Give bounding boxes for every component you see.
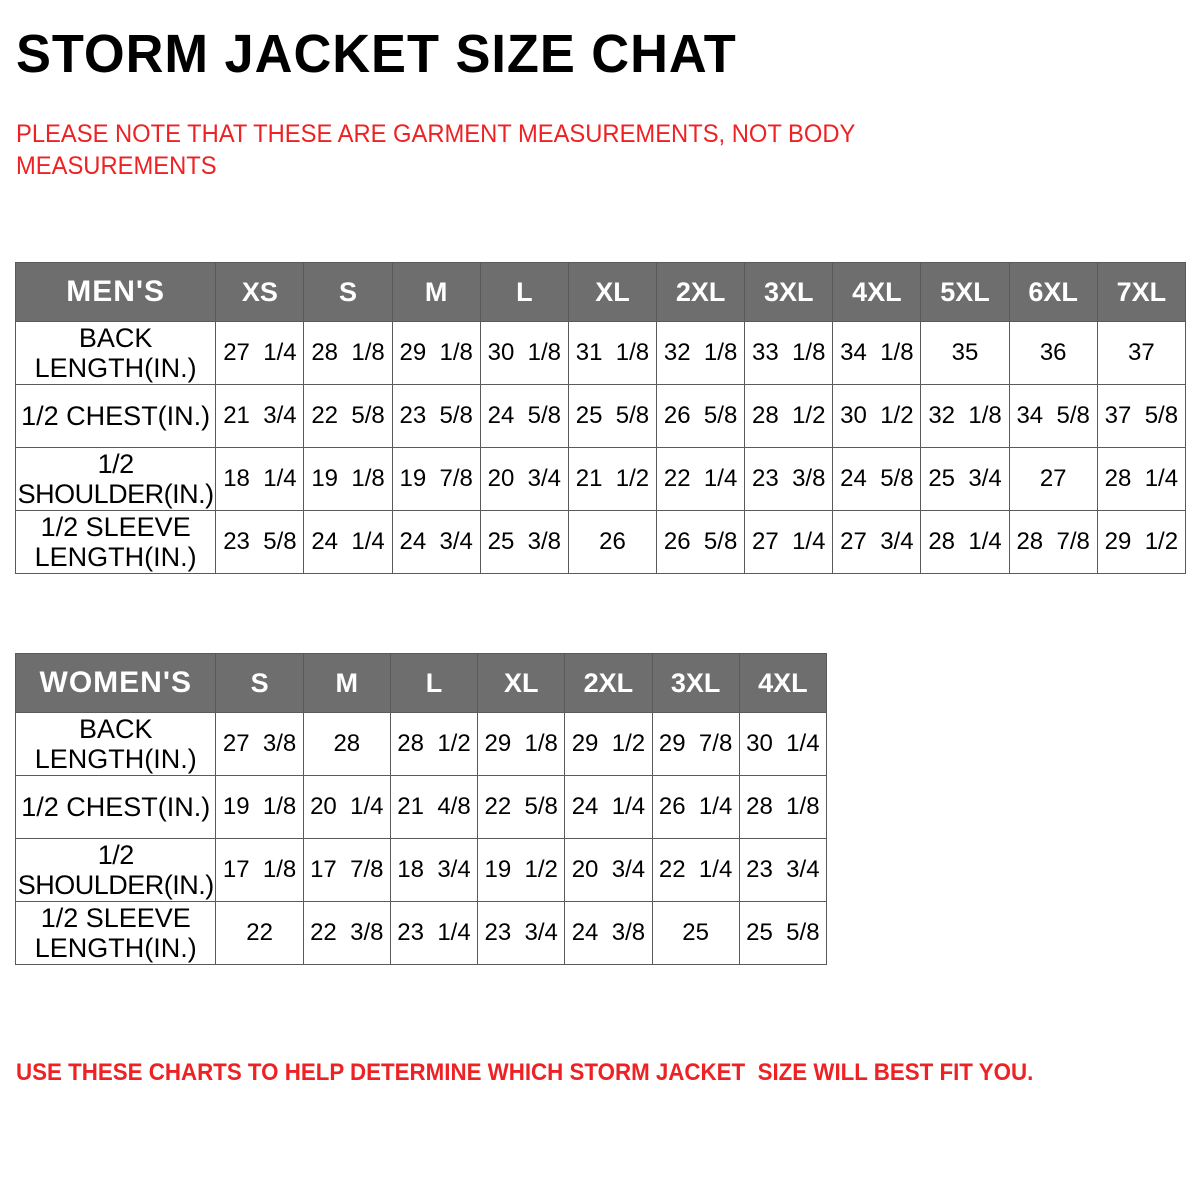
measurement-value: 27 1/4 [745, 528, 832, 556]
mens-cell-r1-c10: 37 5/8 [1097, 385, 1185, 448]
womens-cell-r3-c0: 22 [216, 902, 303, 965]
womens-cell-r0-c5: 29 7/8 [652, 713, 739, 776]
mens-column-header-4xl: 4XL [833, 263, 921, 322]
measurement-value: 29 7/8 [653, 730, 739, 758]
mens-cell-r3-c3: 25 3/8 [480, 511, 568, 574]
page-title: STORM JACKET SIZE CHAT [16, 24, 737, 84]
measurement-value: 24 3/4 [393, 528, 480, 556]
measurement-value: 28 1/2 [391, 730, 477, 758]
mens-row-label: 1/2 SHOULDER(IN.) [16, 448, 216, 511]
measurement-value: 24 1/4 [565, 793, 651, 821]
mens-column-header-5xl: 5XL [921, 263, 1009, 322]
mens-cell-r1-c4: 25 5/8 [568, 385, 656, 448]
measurement-value: 26 1/4 [653, 793, 739, 821]
measurement-value: 25 3/4 [921, 465, 1008, 493]
measurement-value: 25 5/8 [740, 919, 826, 947]
womens-column-header-4xl: 4XL [739, 654, 826, 713]
mens-cell-r2-c6: 23 3/8 [745, 448, 833, 511]
womens-cell-r0-c4: 29 1/2 [565, 713, 652, 776]
table-row: 1/2 CHEST(IN.)21 3/422 5/823 5/824 5/825… [16, 385, 1186, 448]
womens-column-header-s: S [216, 654, 303, 713]
measurement-value: 32 1/8 [657, 339, 744, 367]
mens-cell-r1-c2: 23 5/8 [392, 385, 480, 448]
mens-cell-r0-c10: 37 [1097, 322, 1185, 385]
measurement-value: 22 5/8 [478, 793, 564, 821]
measurement-value: 23 3/8 [745, 465, 832, 493]
measurement-value: 37 5/8 [1098, 402, 1185, 430]
measurement-value: 19 1/8 [216, 793, 302, 821]
measurement-value: 23 5/8 [393, 402, 480, 430]
mens-column-header-xl: XL [568, 263, 656, 322]
garment-measurement-notice: PLEASE NOTE THAT THESE ARE GARMENT MEASU… [16, 118, 928, 182]
measurement-value: 24 5/8 [833, 465, 920, 493]
measurement-value: 29 1/2 [1098, 528, 1185, 556]
measurement-value: 28 1/2 [745, 402, 832, 430]
measurement-value: 29 1/8 [478, 730, 564, 758]
table-row: 1/2 CHEST(IN.)19 1/820 1/421 4/822 5/824… [16, 776, 827, 839]
mens-column-header-7xl: 7XL [1097, 263, 1185, 322]
mens-column-header-3xl: 3XL [745, 263, 833, 322]
mens-cell-r1-c0: 21 3/4 [216, 385, 304, 448]
womens-cell-r2-c1: 17 7/8 [303, 839, 390, 902]
mens-column-header-2xl: 2XL [657, 263, 745, 322]
measurement-value: 33 1/8 [745, 339, 832, 367]
measurement-value: 19 1/2 [478, 856, 564, 884]
measurement-value: 26 5/8 [657, 528, 744, 556]
womens-row-label: 1/2 SHOULDER(IN.) [16, 839, 216, 902]
measurement-value: 28 1/8 [740, 793, 826, 821]
measurement-value: 26 5/8 [657, 402, 744, 430]
measurement-value: 21 1/2 [569, 465, 656, 493]
mens-row-label: 1/2 CHEST(IN.) [16, 385, 216, 448]
table-row: 1/2 SHOULDER(IN.)18 1/419 1/819 7/820 3/… [16, 448, 1186, 511]
womens-cell-r3-c5: 25 [652, 902, 739, 965]
mens-cell-r2-c7: 24 5/8 [833, 448, 921, 511]
mens-column-header-6xl: 6XL [1009, 263, 1097, 322]
mens-cell-r0-c3: 30 1/8 [480, 322, 568, 385]
womens-column-header-xl: XL [478, 654, 565, 713]
measurement-value: 19 7/8 [393, 465, 480, 493]
womens-row-label: BACK LENGTH(IN.) [16, 713, 216, 776]
womens-cell-r1-c2: 21 4/8 [390, 776, 477, 839]
mens-cell-r0-c1: 28 1/8 [304, 322, 392, 385]
table-row: 1/2 SHOULDER(IN.)17 1/817 7/818 3/419 1/… [16, 839, 827, 902]
measurement-value: 30 1/8 [481, 339, 568, 367]
mens-cell-r3-c4: 26 [568, 511, 656, 574]
mens-cell-r2-c4: 21 1/2 [568, 448, 656, 511]
womens-cell-r2-c2: 18 3/4 [390, 839, 477, 902]
mens-cell-r2-c1: 19 1/8 [304, 448, 392, 511]
womens-cell-r3-c6: 25 5/8 [739, 902, 826, 965]
mens-corner-label: MEN'S [16, 263, 216, 322]
mens-column-header-l: L [480, 263, 568, 322]
mens-cell-r3-c10: 29 1/2 [1097, 511, 1185, 574]
measurement-value: 25 5/8 [569, 402, 656, 430]
measurement-value: 22 [216, 919, 302, 947]
measurement-value: 23 1/4 [391, 919, 477, 947]
measurement-value: 29 1/2 [565, 730, 651, 758]
womens-cell-r1-c0: 19 1/8 [216, 776, 303, 839]
mens-cell-r3-c5: 26 5/8 [657, 511, 745, 574]
mens-cell-r0-c7: 34 1/8 [833, 322, 921, 385]
table-row: 1/2 SLEEVE LENGTH(IN.)2222 3/823 1/423 3… [16, 902, 827, 965]
mens-cell-r1-c1: 22 5/8 [304, 385, 392, 448]
measurement-value: 27 3/8 [216, 730, 302, 758]
mens-cell-r0-c0: 27 1/4 [216, 322, 304, 385]
mens-row-label: 1/2 SLEEVE LENGTH(IN.) [16, 511, 216, 574]
mens-cell-r2-c9: 27 [1009, 448, 1097, 511]
mens-cell-r2-c0: 18 1/4 [216, 448, 304, 511]
measurement-value: 24 3/8 [565, 919, 651, 947]
mens-column-header-xs: XS [216, 263, 304, 322]
womens-cell-r1-c1: 20 1/4 [303, 776, 390, 839]
mens-size-table: MEN'SXSSMLXL2XL3XL4XL5XL6XL7XL BACK LENG… [15, 262, 1186, 574]
measurement-value: 28 1/4 [921, 528, 1008, 556]
mens-cell-r1-c7: 30 1/2 [833, 385, 921, 448]
womens-column-header-m: M [303, 654, 390, 713]
table-row: BACK LENGTH(IN.)27 1/428 1/829 1/830 1/8… [16, 322, 1186, 385]
measurement-value: 22 5/8 [304, 402, 391, 430]
measurement-value: 22 1/4 [657, 465, 744, 493]
measurement-value: 28 7/8 [1010, 528, 1097, 556]
mens-cell-r3-c0: 23 5/8 [216, 511, 304, 574]
measurement-value: 18 3/4 [391, 856, 477, 884]
womens-cell-r0-c3: 29 1/8 [478, 713, 565, 776]
mens-column-header-m: M [392, 263, 480, 322]
measurement-value: 31 1/8 [569, 339, 656, 367]
measurement-value: 22 3/8 [304, 919, 390, 947]
measurement-value: 32 1/8 [921, 402, 1008, 430]
womens-row-label: 1/2 CHEST(IN.) [16, 776, 216, 839]
womens-cell-r0-c0: 27 3/8 [216, 713, 303, 776]
mens-cell-r0-c4: 31 1/8 [568, 322, 656, 385]
mens-cell-r2-c2: 19 7/8 [392, 448, 480, 511]
measurement-value: 21 4/8 [391, 793, 477, 821]
womens-column-header-3xl: 3XL [652, 654, 739, 713]
womens-header-row: WOMEN'SSMLXL2XL3XL4XL [16, 654, 827, 713]
mens-cell-r3-c6: 27 1/4 [745, 511, 833, 574]
measurement-value: 27 [1010, 465, 1097, 493]
measurement-value: 17 1/8 [216, 856, 302, 884]
measurement-value: 25 [653, 919, 739, 947]
mens-cell-r0-c5: 32 1/8 [657, 322, 745, 385]
mens-cell-r2-c8: 25 3/4 [921, 448, 1009, 511]
womens-cell-r1-c5: 26 1/4 [652, 776, 739, 839]
mens-cell-r3-c1: 24 1/4 [304, 511, 392, 574]
mens-cell-r3-c2: 24 3/4 [392, 511, 480, 574]
measurement-value: 23 5/8 [216, 528, 303, 556]
measurement-value: 24 1/4 [304, 528, 391, 556]
measurement-value: 24 5/8 [481, 402, 568, 430]
mens-cell-r0-c6: 33 1/8 [745, 322, 833, 385]
measurement-value: 34 5/8 [1010, 402, 1097, 430]
mens-table-body: BACK LENGTH(IN.)27 1/428 1/829 1/830 1/8… [16, 322, 1186, 574]
womens-cell-r1-c4: 24 1/4 [565, 776, 652, 839]
womens-cell-r0-c1: 28 [303, 713, 390, 776]
mens-header-row: MEN'SXSSMLXL2XL3XL4XL5XL6XL7XL [16, 263, 1186, 322]
measurement-value: 20 3/4 [481, 465, 568, 493]
measurement-value: 23 3/4 [478, 919, 564, 947]
womens-table-body: BACK LENGTH(IN.)27 3/82828 1/229 1/829 1… [16, 713, 827, 965]
womens-column-header-l: L [390, 654, 477, 713]
measurement-value: 26 [569, 528, 656, 556]
mens-cell-r1-c3: 24 5/8 [480, 385, 568, 448]
measurement-value: 30 1/2 [833, 402, 920, 430]
size-chart-page: STORM JACKET SIZE CHAT PLEASE NOTE THAT … [0, 0, 1200, 1200]
womens-cell-r1-c3: 22 5/8 [478, 776, 565, 839]
measurement-value: 20 3/4 [565, 856, 651, 884]
womens-cell-r2-c0: 17 1/8 [216, 839, 303, 902]
mens-cell-r1-c5: 26 5/8 [657, 385, 745, 448]
measurement-value: 22 1/4 [653, 856, 739, 884]
measurement-value: 34 1/8 [833, 339, 920, 367]
womens-cell-r3-c3: 23 3/4 [478, 902, 565, 965]
womens-cell-r2-c6: 23 3/4 [739, 839, 826, 902]
measurement-value: 30 1/4 [740, 730, 826, 758]
measurement-value: 37 [1098, 339, 1185, 367]
mens-cell-r1-c9: 34 5/8 [1009, 385, 1097, 448]
measurement-value: 27 3/4 [833, 528, 920, 556]
measurement-value: 21 3/4 [216, 402, 303, 430]
measurement-value: 19 1/8 [304, 465, 391, 493]
womens-cell-r2-c5: 22 1/4 [652, 839, 739, 902]
mens-cell-r2-c5: 22 1/4 [657, 448, 745, 511]
womens-cell-r2-c4: 20 3/4 [565, 839, 652, 902]
mens-cell-r2-c3: 20 3/4 [480, 448, 568, 511]
mens-row-label: BACK LENGTH(IN.) [16, 322, 216, 385]
mens-cell-r0-c2: 29 1/8 [392, 322, 480, 385]
mens-cell-r3-c8: 28 1/4 [921, 511, 1009, 574]
womens-cell-r3-c2: 23 1/4 [390, 902, 477, 965]
mens-cell-r1-c8: 32 1/8 [921, 385, 1009, 448]
womens-cell-r1-c6: 28 1/8 [739, 776, 826, 839]
measurement-value: 17 7/8 [304, 856, 390, 884]
measurement-value: 23 3/4 [740, 856, 826, 884]
mens-cell-r0-c8: 35 [921, 322, 1009, 385]
womens-cell-r3-c1: 22 3/8 [303, 902, 390, 965]
measurement-value: 28 [304, 730, 390, 758]
table-row: BACK LENGTH(IN.)27 3/82828 1/229 1/829 1… [16, 713, 827, 776]
measurement-value: 35 [921, 339, 1008, 367]
womens-cell-r3-c4: 24 3/8 [565, 902, 652, 965]
womens-corner-label: WOMEN'S [16, 654, 216, 713]
mens-column-header-s: S [304, 263, 392, 322]
measurement-value: 18 1/4 [216, 465, 303, 493]
mens-cell-r1-c6: 28 1/2 [745, 385, 833, 448]
mens-cell-r3-c7: 27 3/4 [833, 511, 921, 574]
womens-size-table: WOMEN'SSMLXL2XL3XL4XL BACK LENGTH(IN.)27… [15, 653, 827, 965]
measurement-value: 28 1/4 [1098, 465, 1185, 493]
womens-cell-r0-c2: 28 1/2 [390, 713, 477, 776]
mens-cell-r3-c9: 28 7/8 [1009, 511, 1097, 574]
measurement-value: 29 1/8 [393, 339, 480, 367]
help-determine-notice: USE THESE CHARTS TO HELP DETERMINE WHICH… [16, 1058, 1095, 1088]
womens-table-head: WOMEN'SSMLXL2XL3XL4XL [16, 654, 827, 713]
mens-cell-r2-c10: 28 1/4 [1097, 448, 1185, 511]
measurement-value: 20 1/4 [304, 793, 390, 821]
womens-row-label: 1/2 SLEEVE LENGTH(IN.) [16, 902, 216, 965]
measurement-value: 28 1/8 [304, 339, 391, 367]
womens-cell-r0-c6: 30 1/4 [739, 713, 826, 776]
mens-table-head: MEN'SXSSMLXL2XL3XL4XL5XL6XL7XL [16, 263, 1186, 322]
table-row: 1/2 SLEEVE LENGTH(IN.)23 5/824 1/424 3/4… [16, 511, 1186, 574]
measurement-value: 27 1/4 [216, 339, 303, 367]
mens-cell-r0-c9: 36 [1009, 322, 1097, 385]
womens-column-header-2xl: 2XL [565, 654, 652, 713]
womens-cell-r2-c3: 19 1/2 [478, 839, 565, 902]
measurement-value: 36 [1010, 339, 1097, 367]
measurement-value: 25 3/8 [481, 528, 568, 556]
